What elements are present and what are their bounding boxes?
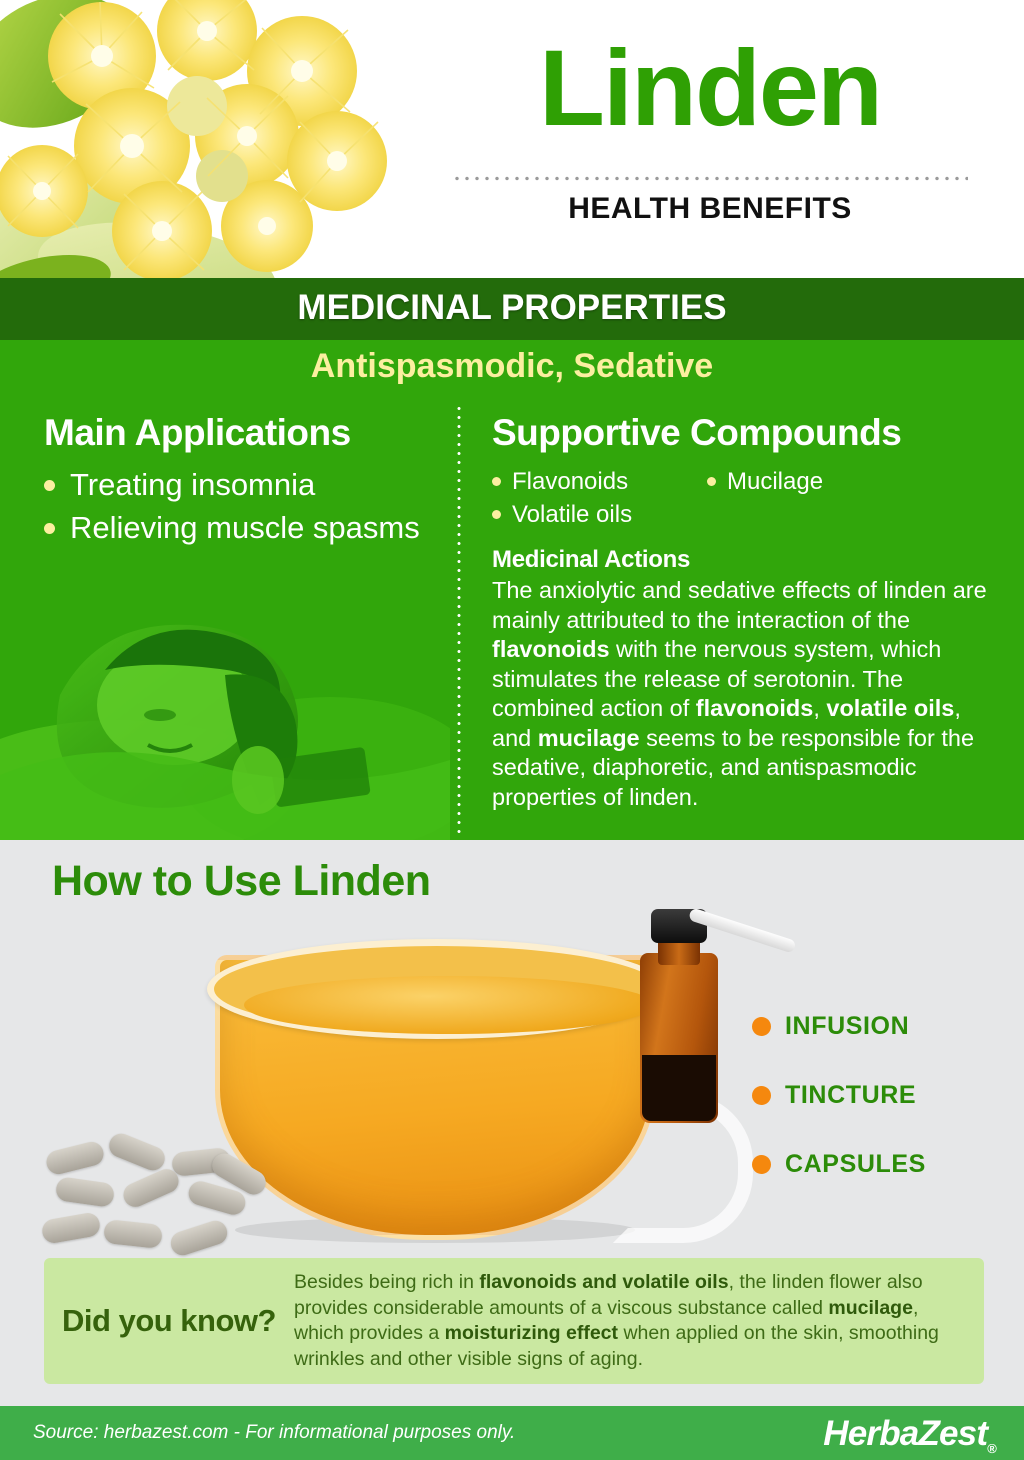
orange-bullet-icon (752, 1086, 771, 1105)
tea-surface (244, 976, 654, 1034)
did-you-know-panel: Did you know? Besides being rich in flav… (44, 1258, 984, 1384)
header-section: Linden HEALTH BENEFITS (0, 0, 1024, 278)
linden-flowers-photo-top (0, 0, 452, 316)
tincture-bottle-illustration (628, 905, 738, 1140)
how-to-use-heading: How to Use Linden (52, 857, 431, 906)
orange-bullet-icon (752, 1155, 771, 1174)
bullet-dot-icon (492, 477, 501, 486)
capsule (168, 1218, 231, 1259)
bullet-dot-icon (44, 480, 55, 491)
list-item: Relieving muscle spasms (44, 509, 444, 547)
list-item: CAPSULES (752, 1150, 926, 1179)
compound-label: Mucilage (727, 466, 823, 498)
application-label: Relieving muscle spasms (70, 509, 420, 547)
supportive-compounds-heading: Supportive Compounds (492, 412, 1002, 454)
page-subtitle: HEALTH BENEFITS (430, 192, 990, 226)
compounds-column-2: Mucilage (707, 466, 823, 532)
usage-method-label: INFUSION (785, 1012, 909, 1041)
capsule (40, 1211, 101, 1245)
registered-mark: ® (987, 1441, 996, 1456)
compounds-list: Flavonoids Volatile oils Mucilage (492, 466, 1002, 532)
medicinal-properties-banner: MEDICINAL PROPERTIES (0, 278, 1024, 340)
compound-label: Volatile oils (512, 499, 632, 531)
title-divider-dots (452, 176, 968, 181)
main-applications-column: Main Applications Treating insomnia Reli… (44, 412, 444, 552)
compounds-column-1: Flavonoids Volatile oils (492, 466, 707, 532)
logo-text: HerbaZest (823, 1414, 987, 1453)
cup-rim (207, 939, 667, 1039)
properties-value: Antispasmodic, Sedative (0, 347, 1024, 386)
main-applications-heading: Main Applications (44, 412, 444, 454)
did-you-know-label: Did you know? (44, 1303, 294, 1339)
usage-methods-list: INFUSION TINCTURE CAPSULES (752, 1012, 926, 1219)
footer-bar: Source: herbazest.com - For informationa… (0, 1406, 1024, 1460)
list-item: Mucilage (707, 466, 823, 498)
bullet-dot-icon (707, 477, 716, 486)
supportive-compounds-column: Supportive Compounds Flavonoids Volatile… (492, 412, 1002, 812)
herbazest-logo[interactable]: HerbaZest® (823, 1414, 996, 1456)
list-item: Volatile oils (492, 499, 707, 531)
sleeping-woman-photo (0, 575, 450, 840)
properties-subbanner: Antispasmodic, Sedative (0, 340, 1024, 400)
usage-method-label: CAPSULES (785, 1150, 926, 1179)
list-item: TINCTURE (752, 1081, 926, 1110)
bullet-dot-icon (492, 510, 501, 519)
capsule (44, 1139, 106, 1176)
capsules-illustration (42, 1140, 272, 1270)
infographic-page: Linden HEALTH BENEFITS MEDICINAL PROPERT… (0, 0, 1024, 1460)
bottle-liquid (642, 1055, 716, 1121)
did-you-know-text: Besides being rich in flavonoids and vol… (294, 1270, 984, 1372)
bullet-dot-icon (44, 523, 55, 534)
main-green-panel: Main Applications Treating insomnia Reli… (0, 400, 1024, 840)
page-title: Linden (430, 34, 990, 142)
capsule (55, 1176, 116, 1208)
source-text: Source: herbazest.com - For informationa… (33, 1422, 515, 1444)
capsule (120, 1165, 183, 1211)
application-label: Treating insomnia (70, 466, 315, 504)
capsule (103, 1219, 163, 1249)
usage-method-label: TINCTURE (785, 1081, 916, 1110)
column-divider-dotted (457, 404, 461, 836)
medicinal-actions-heading: Medicinal Actions (492, 546, 1002, 574)
medicinal-actions-text: The anxiolytic and sedative effects of l… (492, 576, 1002, 812)
list-item: Treating insomnia (44, 466, 444, 504)
medicinal-properties-title: MEDICINAL PROPERTIES (0, 288, 1024, 328)
compound-label: Flavonoids (512, 466, 628, 498)
list-item: INFUSION (752, 1012, 926, 1041)
orange-bullet-icon (752, 1017, 771, 1036)
list-item: Flavonoids (492, 466, 707, 498)
